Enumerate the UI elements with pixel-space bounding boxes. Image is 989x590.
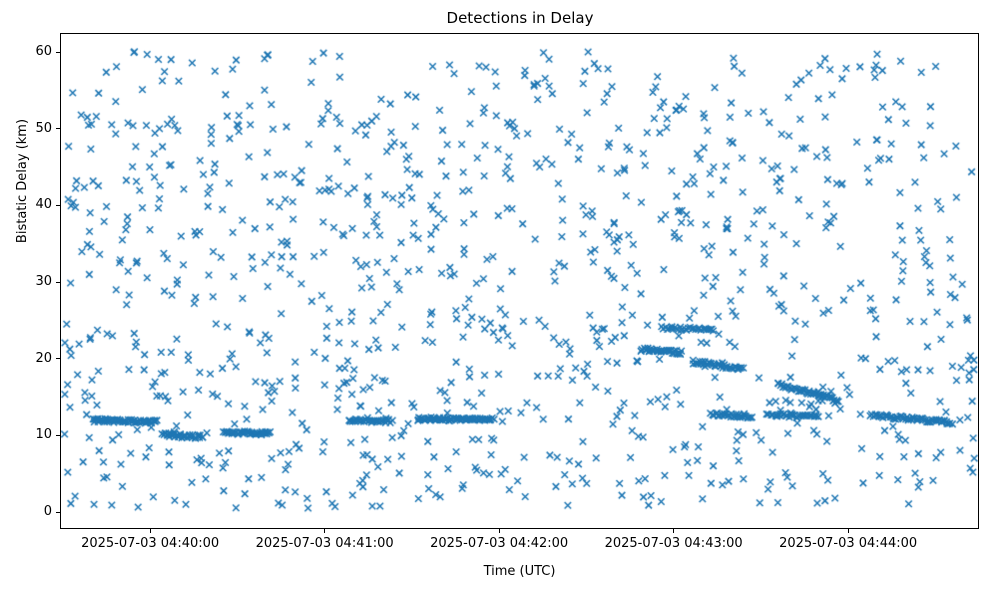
x-tick-label: 2025-07-03 04:44:00: [779, 535, 917, 553]
y-tick-label: 50: [35, 120, 52, 138]
matplotlib-figure: Detections in Delay 0102030405060 2025-0…: [0, 0, 989, 590]
y-tick-label: 40: [35, 196, 52, 214]
x-tick-mark: [848, 529, 849, 533]
x-tick-mark: [673, 529, 674, 533]
scatter-plot-canvas: [61, 34, 978, 528]
y-tick-mark: [56, 52, 60, 53]
y-tick-mark: [56, 358, 60, 359]
x-axis-label: Time (UTC): [60, 563, 979, 581]
y-tick-mark: [56, 205, 60, 206]
y-axis-label: Bistatic Delay (km): [14, 81, 32, 281]
x-tick-mark: [499, 529, 500, 533]
y-tick-label: 30: [35, 273, 52, 291]
y-tick-label: 10: [35, 426, 52, 444]
y-tick-mark: [56, 128, 60, 129]
x-tick-label: 2025-07-03 04:40:00: [81, 535, 219, 553]
y-tick-mark: [56, 435, 60, 436]
x-tick-label: 2025-07-03 04:42:00: [430, 535, 568, 553]
y-tick-mark: [56, 282, 60, 283]
y-tick-mark: [56, 512, 60, 513]
x-tick-mark: [150, 529, 151, 533]
y-tick-label: 0: [44, 503, 52, 521]
plot-axes: [60, 33, 979, 529]
y-tick-label: 60: [35, 43, 52, 61]
x-tick-mark: [324, 529, 325, 533]
page-title: Detections in Delay: [60, 8, 980, 28]
y-tick-label: 20: [35, 350, 52, 368]
x-tick-label: 2025-07-03 04:41:00: [256, 535, 394, 553]
x-tick-label: 2025-07-03 04:43:00: [605, 535, 743, 553]
